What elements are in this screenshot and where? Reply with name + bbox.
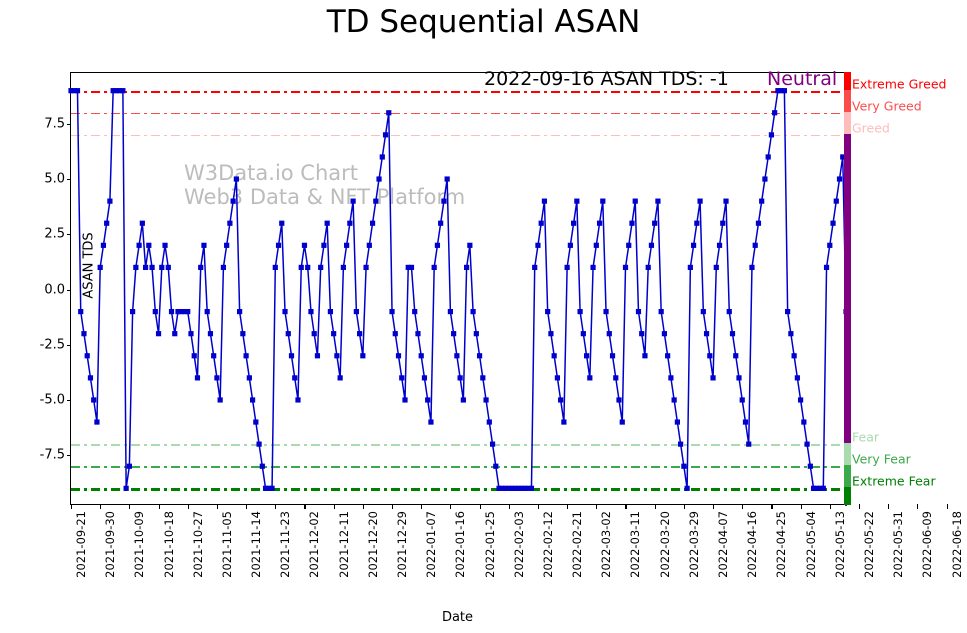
x-tick-label: 2022-04-16 bbox=[745, 511, 759, 578]
x-tick-mark bbox=[947, 504, 948, 509]
page-title: TD Sequential ASAN bbox=[0, 4, 967, 40]
x-tick-label: 2021-11-14 bbox=[249, 511, 263, 578]
x-tick-label: 2022-03-11 bbox=[628, 511, 642, 578]
y-tick-label: -7.5 bbox=[40, 448, 65, 463]
annotation-value: 2022-09-16 ASAN TDS: -1 bbox=[484, 68, 729, 90]
colorbar-segment bbox=[844, 72, 851, 90]
x-tick-label: 2021-10-09 bbox=[132, 511, 146, 578]
x-tick-label: 2022-06-18 bbox=[950, 511, 964, 578]
x-tick-label: 2022-05-04 bbox=[804, 511, 818, 578]
x-tick-label: 2022-05-31 bbox=[891, 511, 905, 578]
colorbar-segment bbox=[844, 487, 851, 505]
colorbar-segment bbox=[844, 443, 851, 465]
x-tick-label: 2022-03-02 bbox=[599, 511, 613, 578]
x-tick-label: 2021-12-02 bbox=[307, 511, 321, 578]
y-tick-label: 7.5 bbox=[44, 116, 65, 131]
colorbar-segment bbox=[844, 465, 851, 487]
colorbar-segment bbox=[844, 112, 851, 134]
band-label-extreme-greed: Extreme Greed bbox=[852, 76, 946, 91]
band-label-extreme-fear: Extreme Fear bbox=[852, 474, 936, 489]
colorbar-segment bbox=[844, 134, 851, 443]
colorbar-segment bbox=[844, 90, 851, 112]
x-tick-label: 2021-12-11 bbox=[337, 511, 351, 578]
y-tick-label: 5.0 bbox=[44, 172, 65, 187]
band-label-greed: Greed bbox=[852, 120, 890, 135]
x-tick-label: 2022-02-03 bbox=[512, 511, 526, 578]
x-tick-label: 2022-02-12 bbox=[541, 511, 555, 578]
x-tick-label: 2022-03-20 bbox=[658, 511, 672, 578]
chart-page: TD Sequential ASAN ASAN TDS 7.55.02.50.0… bbox=[0, 0, 967, 633]
x-axis-label: Date bbox=[70, 610, 845, 625]
band-label-fear: Fear bbox=[852, 430, 879, 445]
y-tick-label: 2.5 bbox=[44, 227, 65, 242]
x-tick-mark bbox=[917, 504, 918, 509]
series-markers bbox=[68, 88, 848, 491]
x-tick-label: 2022-03-29 bbox=[687, 511, 701, 578]
sentiment-colorbar bbox=[844, 72, 851, 505]
x-tick-label: 2021-09-21 bbox=[74, 511, 88, 578]
y-tick-label: -2.5 bbox=[40, 337, 65, 352]
x-tick-label: 2022-01-07 bbox=[424, 511, 438, 578]
x-tick-label: 2022-01-25 bbox=[483, 511, 497, 578]
x-tick-label: 2022-05-13 bbox=[833, 511, 847, 578]
x-tick-label: 2021-10-18 bbox=[162, 511, 176, 578]
x-tick-mark bbox=[888, 504, 889, 509]
x-tick-label: 2022-04-25 bbox=[774, 511, 788, 578]
series-polyline bbox=[71, 91, 846, 489]
band-label-very-fear: Very Fear bbox=[852, 452, 911, 467]
x-tick-label: 2021-11-23 bbox=[278, 511, 292, 578]
annotation-state: Neutral bbox=[767, 68, 837, 90]
x-tick-label: 2022-05-22 bbox=[862, 511, 876, 578]
x-tick-label: 2022-01-16 bbox=[453, 511, 467, 578]
x-tick-label: 2021-11-05 bbox=[220, 511, 234, 578]
plot-area: ASAN TDS 7.55.02.50.0-2.5-5.0-7.5 W3Data… bbox=[70, 72, 845, 505]
x-tick-label: 2022-06-09 bbox=[920, 511, 934, 578]
band-label-very-greed: Very Greed bbox=[852, 98, 922, 113]
x-tick-label: 2021-09-30 bbox=[103, 511, 117, 578]
tds-series-line bbox=[71, 73, 846, 506]
y-tick-label: 0.0 bbox=[44, 282, 65, 297]
x-tick-label: 2021-12-20 bbox=[366, 511, 380, 578]
x-tick-label: 2021-10-27 bbox=[191, 511, 205, 578]
x-tick-mark bbox=[859, 504, 860, 509]
y-tick-label: -5.0 bbox=[40, 392, 65, 407]
x-tick-label: 2022-04-07 bbox=[716, 511, 730, 578]
x-tick-label: 2022-02-21 bbox=[570, 511, 584, 578]
x-tick-label: 2021-12-29 bbox=[395, 511, 409, 578]
